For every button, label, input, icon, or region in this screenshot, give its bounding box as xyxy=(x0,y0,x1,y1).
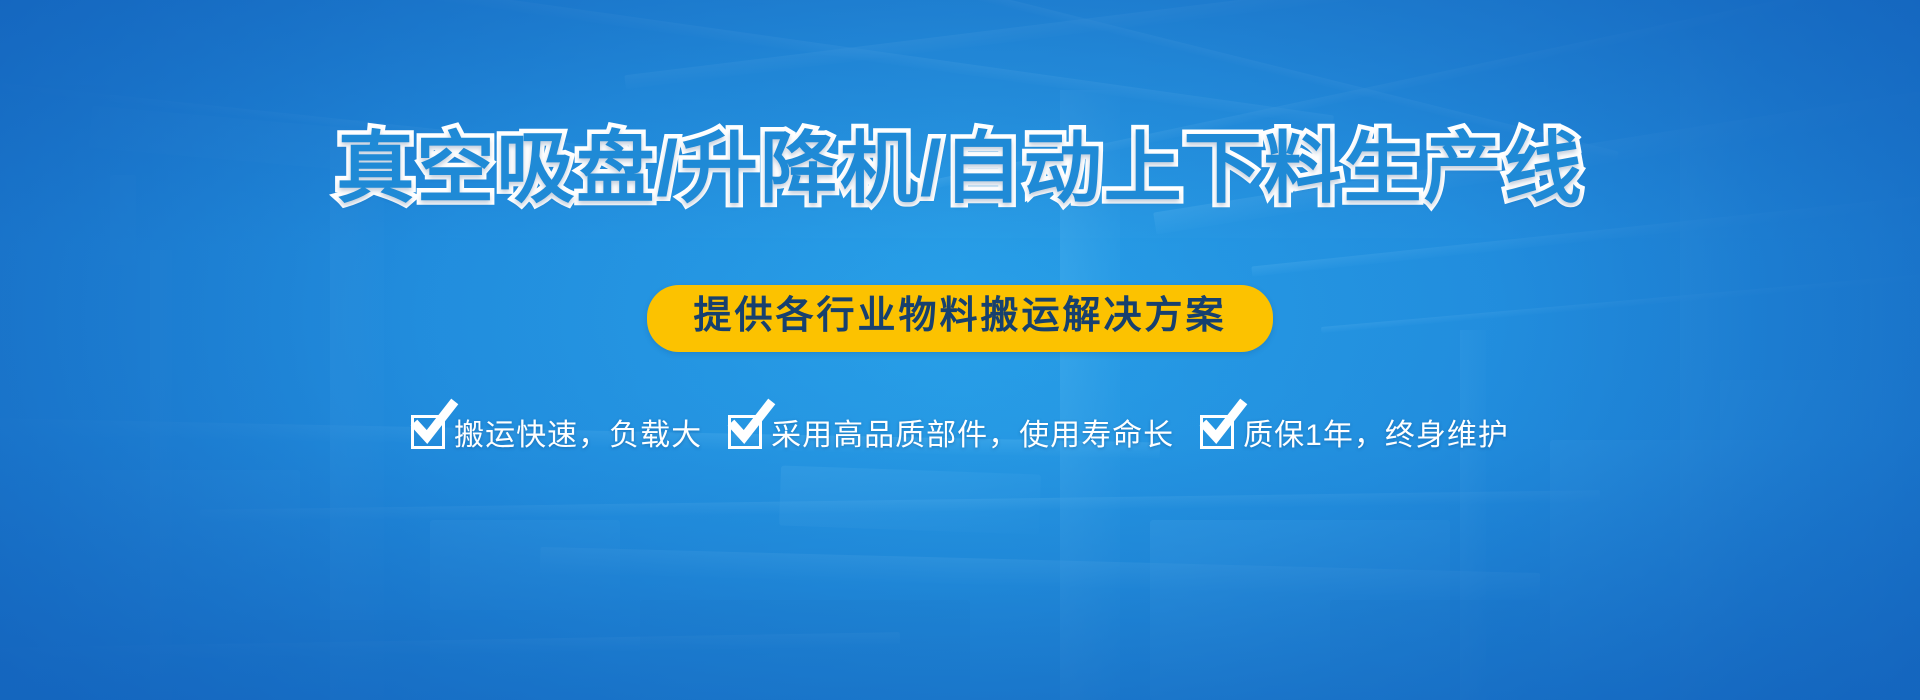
feature-item-2: 采用高品质部件，使用寿命长 xyxy=(728,410,1174,454)
checkbox-checked-icon xyxy=(1200,415,1234,449)
checkbox-checked-icon xyxy=(728,415,762,449)
feature-label: 质保1年，终身维护 xyxy=(1243,410,1509,454)
feature-item-3: 质保1年，终身维护 xyxy=(1200,410,1509,454)
checkbox-checked-icon xyxy=(411,415,445,449)
feature-label: 采用高品质部件，使用寿命长 xyxy=(771,410,1174,454)
banner-headline: 真空吸盘/升降机/自动上下料生产线 xyxy=(336,129,1583,207)
feature-label: 搬运快速，负载大 xyxy=(454,410,702,454)
hero-banner: 真空吸盘/升降机/自动上下料生产线 提供各行业物料搬运解决方案 搬运快速，负载大… xyxy=(0,0,1920,700)
feature-item-1: 搬运快速，负载大 xyxy=(411,410,702,454)
banner-content: 真空吸盘/升降机/自动上下料生产线 提供各行业物料搬运解决方案 搬运快速，负载大… xyxy=(0,0,1920,700)
banner-subtitle-badge: 提供各行业物料搬运解决方案 xyxy=(647,285,1272,352)
feature-list: 搬运快速，负载大 采用高品质部件，使用寿命长 质保1年，终身维护 xyxy=(411,410,1509,454)
